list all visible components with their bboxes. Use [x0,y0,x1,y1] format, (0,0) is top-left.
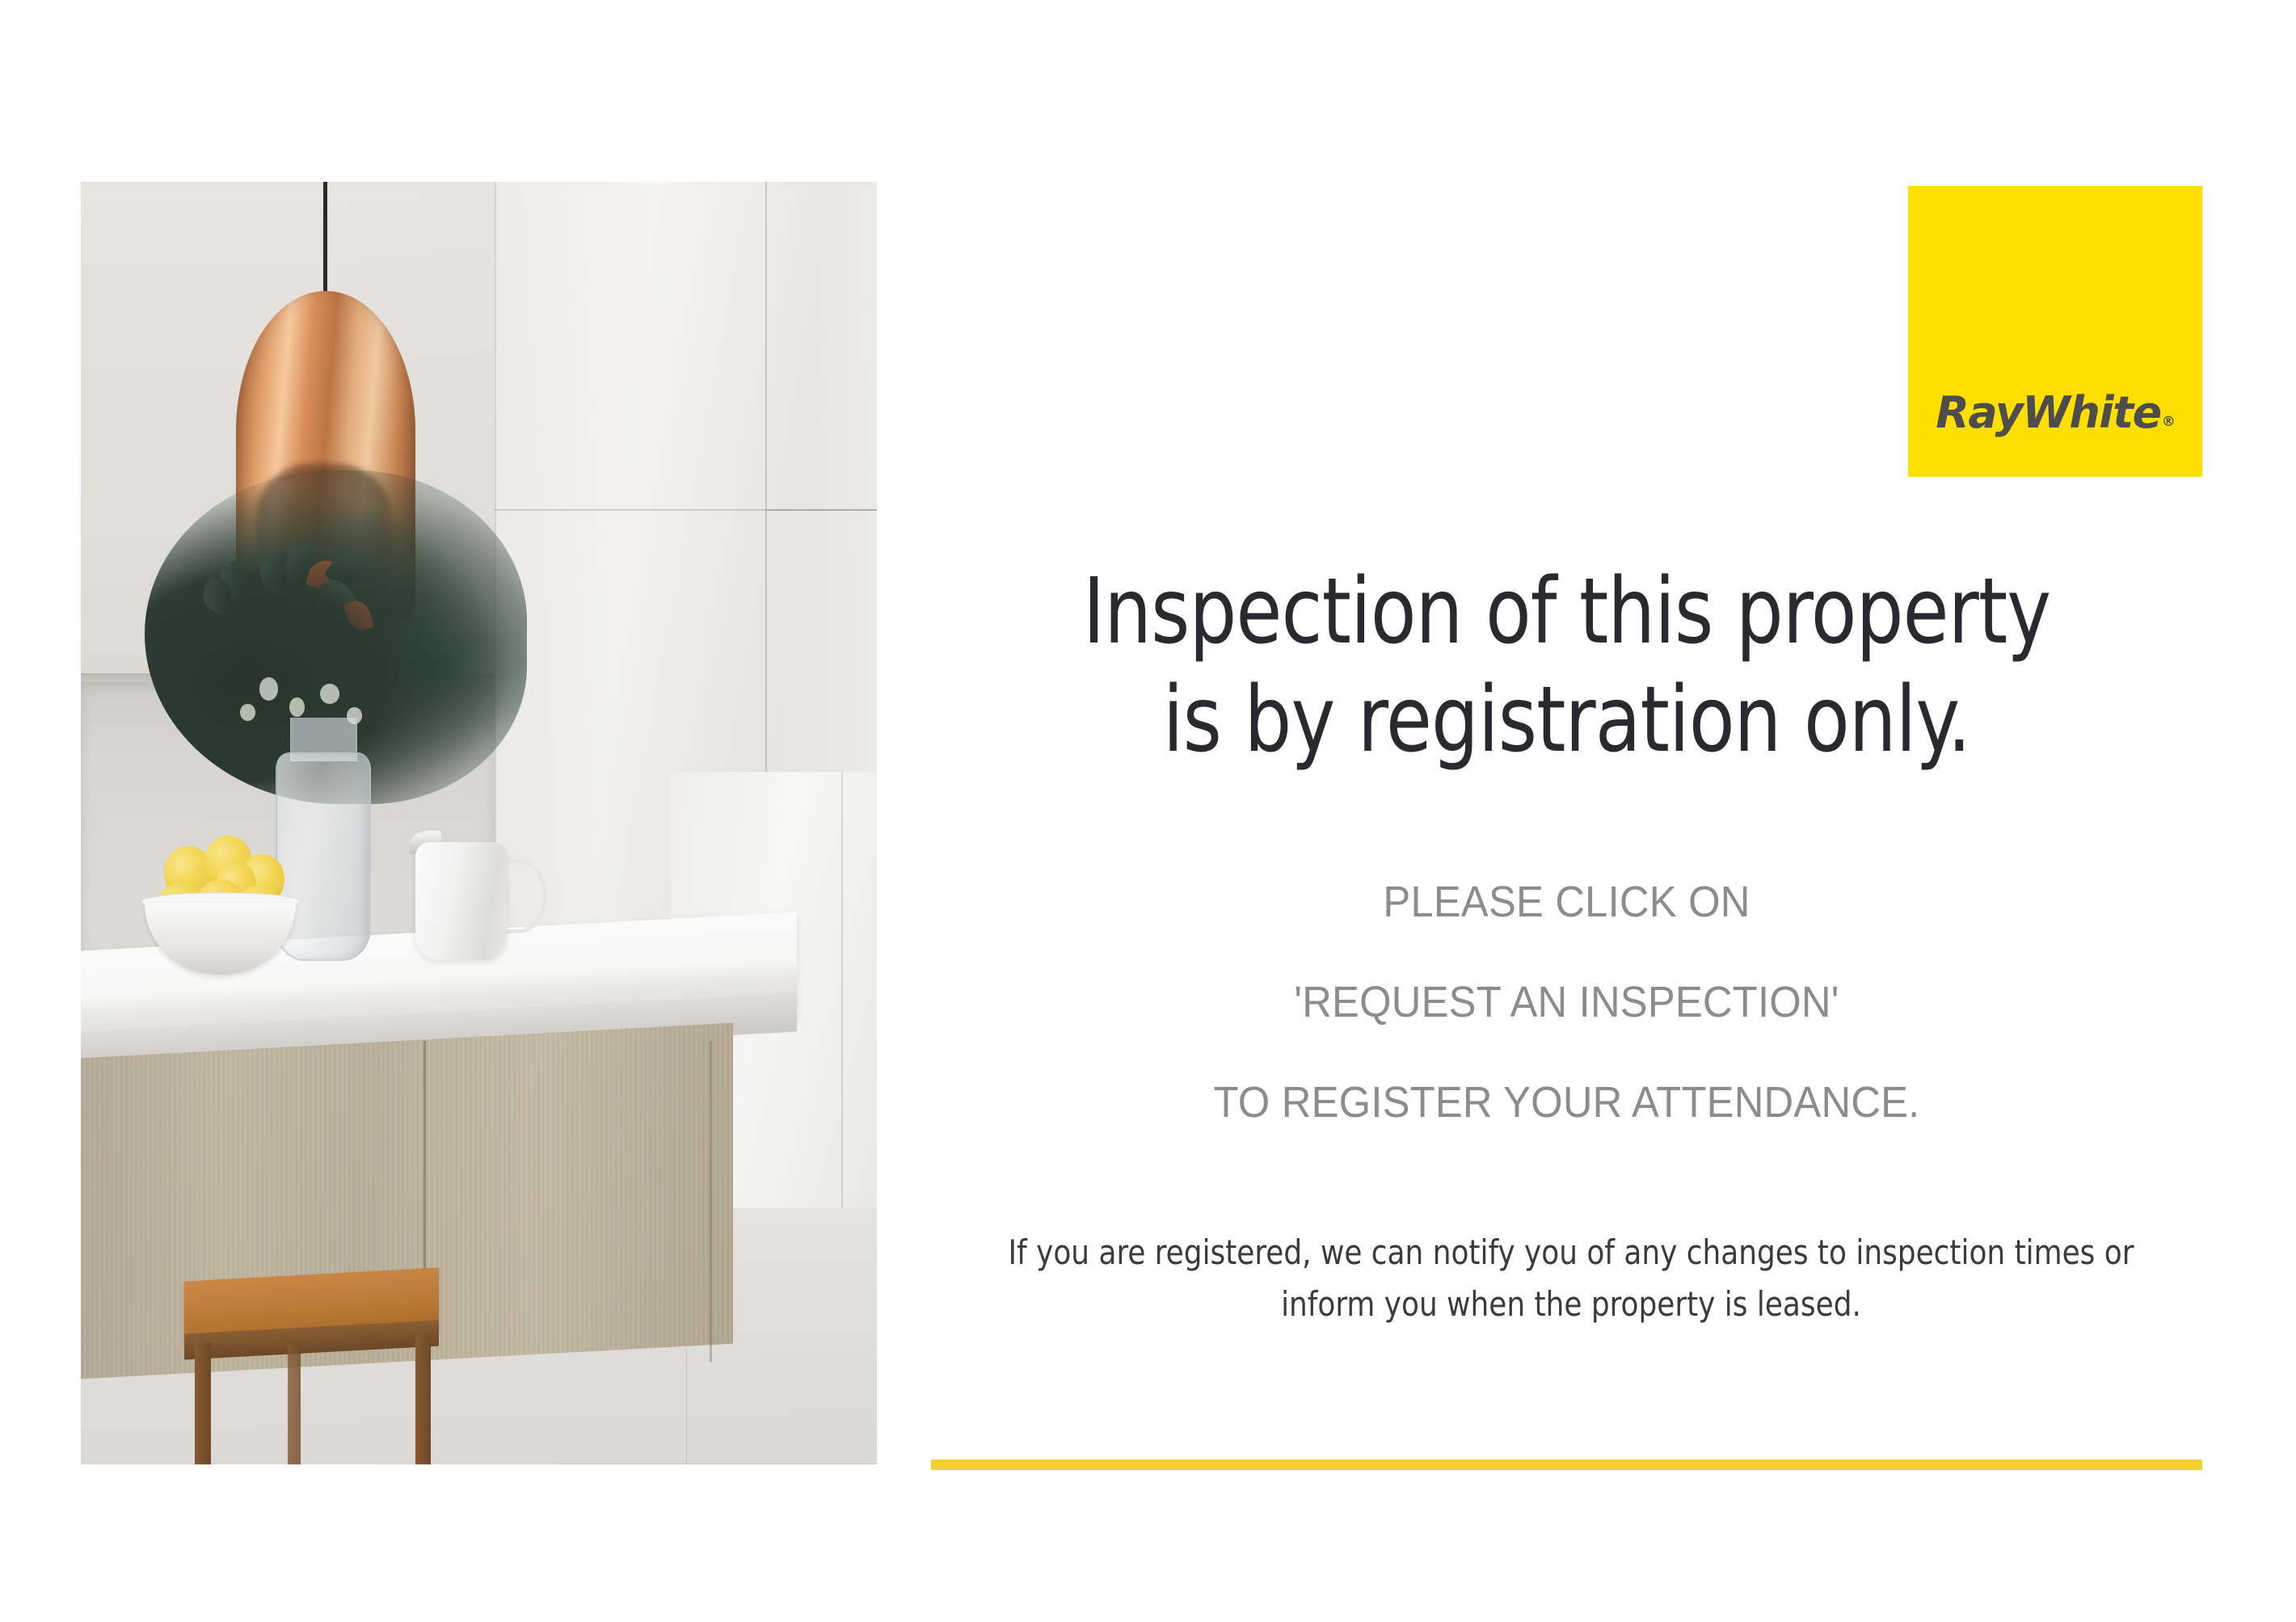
photo-cabinet-seam [841,772,843,1233]
page-title-line-1: Inspection of this property [982,558,2151,666]
photo-floor-seam [558,1464,877,1464]
stool-leg [195,1342,211,1464]
blossom [240,704,255,721]
ceramic-jug [415,842,507,960]
notice-page: RayWhite® Inspection of this property is… [0,0,2296,1622]
page-title-line-2: is by registration only. [982,666,2151,774]
page-title: Inspection of this property is by regist… [982,558,2151,775]
yellow-divider [931,1460,2202,1470]
instructions-block: PLEASE CLICK ON 'REQUEST AN INSPECTION' … [969,877,2164,1127]
photo-cabinet-seam [765,509,877,511]
body-note-line-2: inform you when the property is leased. [1281,1284,1861,1324]
instruction-line-3: TO REGISTER YOUR ATTENDANCE. [969,1077,2164,1127]
notice-content: RayWhite® Inspection of this property is… [931,0,2202,1622]
blossom [320,684,339,704]
stool-leg [415,1336,432,1464]
instruction-line-1: PLEASE CLICK ON [969,877,2164,927]
raywhite-logo: RayWhite® [1908,186,2202,477]
island-seam [710,1041,712,1362]
raywhite-brand-text: RayWhite [1936,387,2161,438]
instruction-line-2: 'REQUEST AN INSPECTION' [969,977,2164,1027]
raywhite-wordmark: RayWhite® [1908,391,2202,435]
pendant-cord-icon [323,182,327,304]
body-note: If you are registered, we can notify you… [972,1227,2170,1330]
registered-trademark-icon: ® [2162,414,2176,430]
stool-leg [288,1345,301,1464]
blossom [289,697,305,718]
leaf [343,597,373,633]
body-note-line-1: If you are registered, we can notify you… [1009,1232,2134,1272]
blossom [259,677,279,701]
kitchen-photo [81,182,877,1464]
